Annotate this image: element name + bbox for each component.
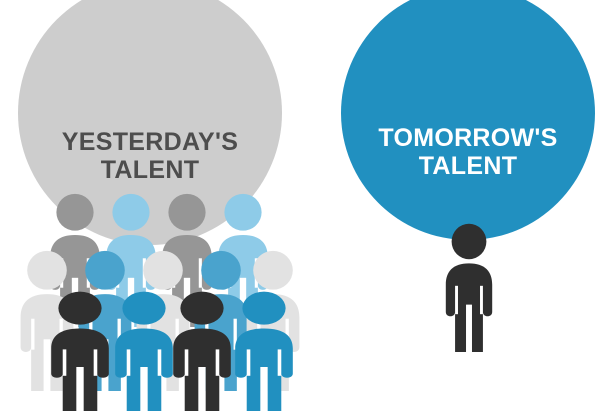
person-solo [440, 222, 498, 352]
person-front-4 [228, 290, 300, 411]
infographic-canvas: YESTERDAY'S TALENT TOMORROW'S TALENT [0, 0, 616, 411]
tomorrows-talent-crowd [440, 222, 498, 352]
yesterdays-talent-crowd [0, 0, 320, 411]
tomorrows-talent-circle: TOMORROW'S TALENT [341, 0, 595, 240]
tomorrows-talent-label: TOMORROW'S TALENT [378, 46, 557, 180]
person-front-1 [44, 290, 116, 411]
